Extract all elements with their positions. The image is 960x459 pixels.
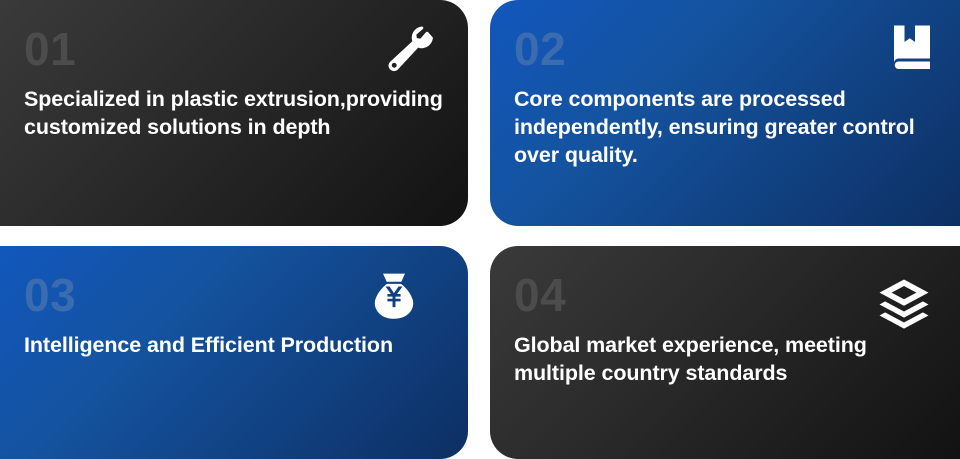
card-index: 04 [514, 272, 938, 318]
feature-card-grid: 01 Specialized in plastic extrusion,prov… [0, 0, 960, 459]
layers-stack-icon [876, 276, 932, 332]
book-bookmark-icon [888, 24, 936, 72]
card-headline: Global market experience, meeting multip… [514, 332, 938, 388]
feature-card-02[interactable]: 02 Core components are processed indepen… [490, 0, 960, 226]
wrench-icon [382, 24, 436, 78]
card-headline: Core components are processed independen… [514, 86, 938, 170]
money-bag-yen-icon [368, 270, 420, 322]
feature-card-04[interactable]: 04 Global market experience, meeting mul… [490, 246, 960, 459]
feature-card-01[interactable]: 01 Specialized in plastic extrusion,prov… [0, 0, 468, 226]
card-index: 02 [514, 26, 938, 72]
card-headline: Intelligence and Efficient Production [24, 332, 446, 360]
card-headline: Specialized in plastic extrusion,providi… [24, 86, 446, 142]
feature-card-03[interactable]: 03 Intelligence and Efficient Production [0, 246, 468, 459]
